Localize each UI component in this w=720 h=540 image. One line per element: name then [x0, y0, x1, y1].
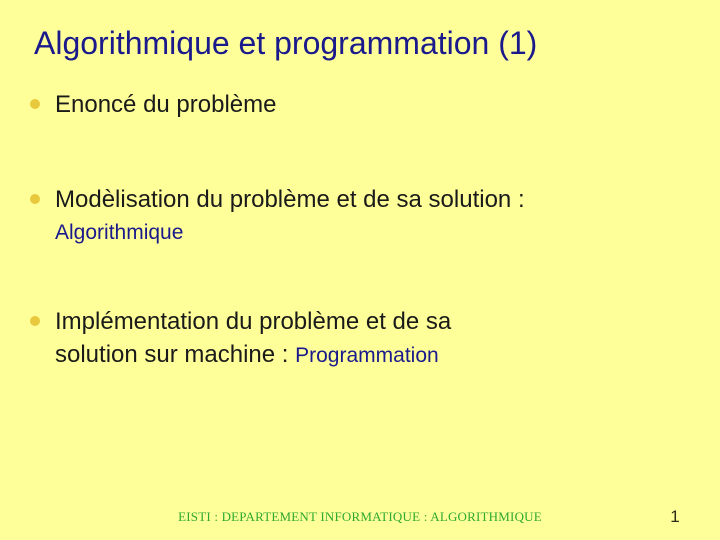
page-title: Algorithmique et programmation (1): [34, 22, 694, 64]
list-item: Enoncé du problème: [28, 88, 696, 121]
list-item-text: Enoncé du problème: [55, 88, 696, 121]
bullet-dot-icon: [30, 316, 40, 326]
bullet-dot-icon: [30, 99, 40, 109]
slide-footer: EISTI : DEPARTEMENT INFORMATIQUE : ALGOR…: [0, 508, 720, 534]
list-item-main-text: Implémentation du problème et de sa: [55, 308, 451, 335]
bullet-list: Enoncé du problème Modèlisation du probl…: [28, 88, 696, 372]
list-item-main-text: Modèlisation du problème et de sa soluti…: [55, 186, 525, 213]
presentation-slide: Algorithmique et programmation (1) Enonc…: [0, 0, 720, 540]
list-item: Implémentation du problème et de sa solu…: [28, 305, 696, 372]
list-item-second-line: solution sur machine : Programmation: [55, 338, 696, 372]
list-item-continuation-text: solution sur machine :: [55, 341, 295, 368]
list-item: Modèlisation du problème et de sa soluti…: [28, 183, 696, 249]
bullet-dot-icon: [30, 194, 40, 204]
list-item-emphasis-text: Programmation: [295, 344, 439, 367]
list-item-text: Implémentation du problème et de sa solu…: [55, 305, 696, 372]
list-item-main-text: Enoncé du problème: [55, 91, 276, 118]
list-item-text: Modèlisation du problème et de sa soluti…: [55, 183, 696, 249]
page-number: 1: [660, 507, 690, 527]
list-item-emphasis-text: Algorithmique: [55, 216, 696, 249]
footer-label: EISTI : DEPARTEMENT INFORMATIQUE : ALGOR…: [0, 508, 720, 526]
